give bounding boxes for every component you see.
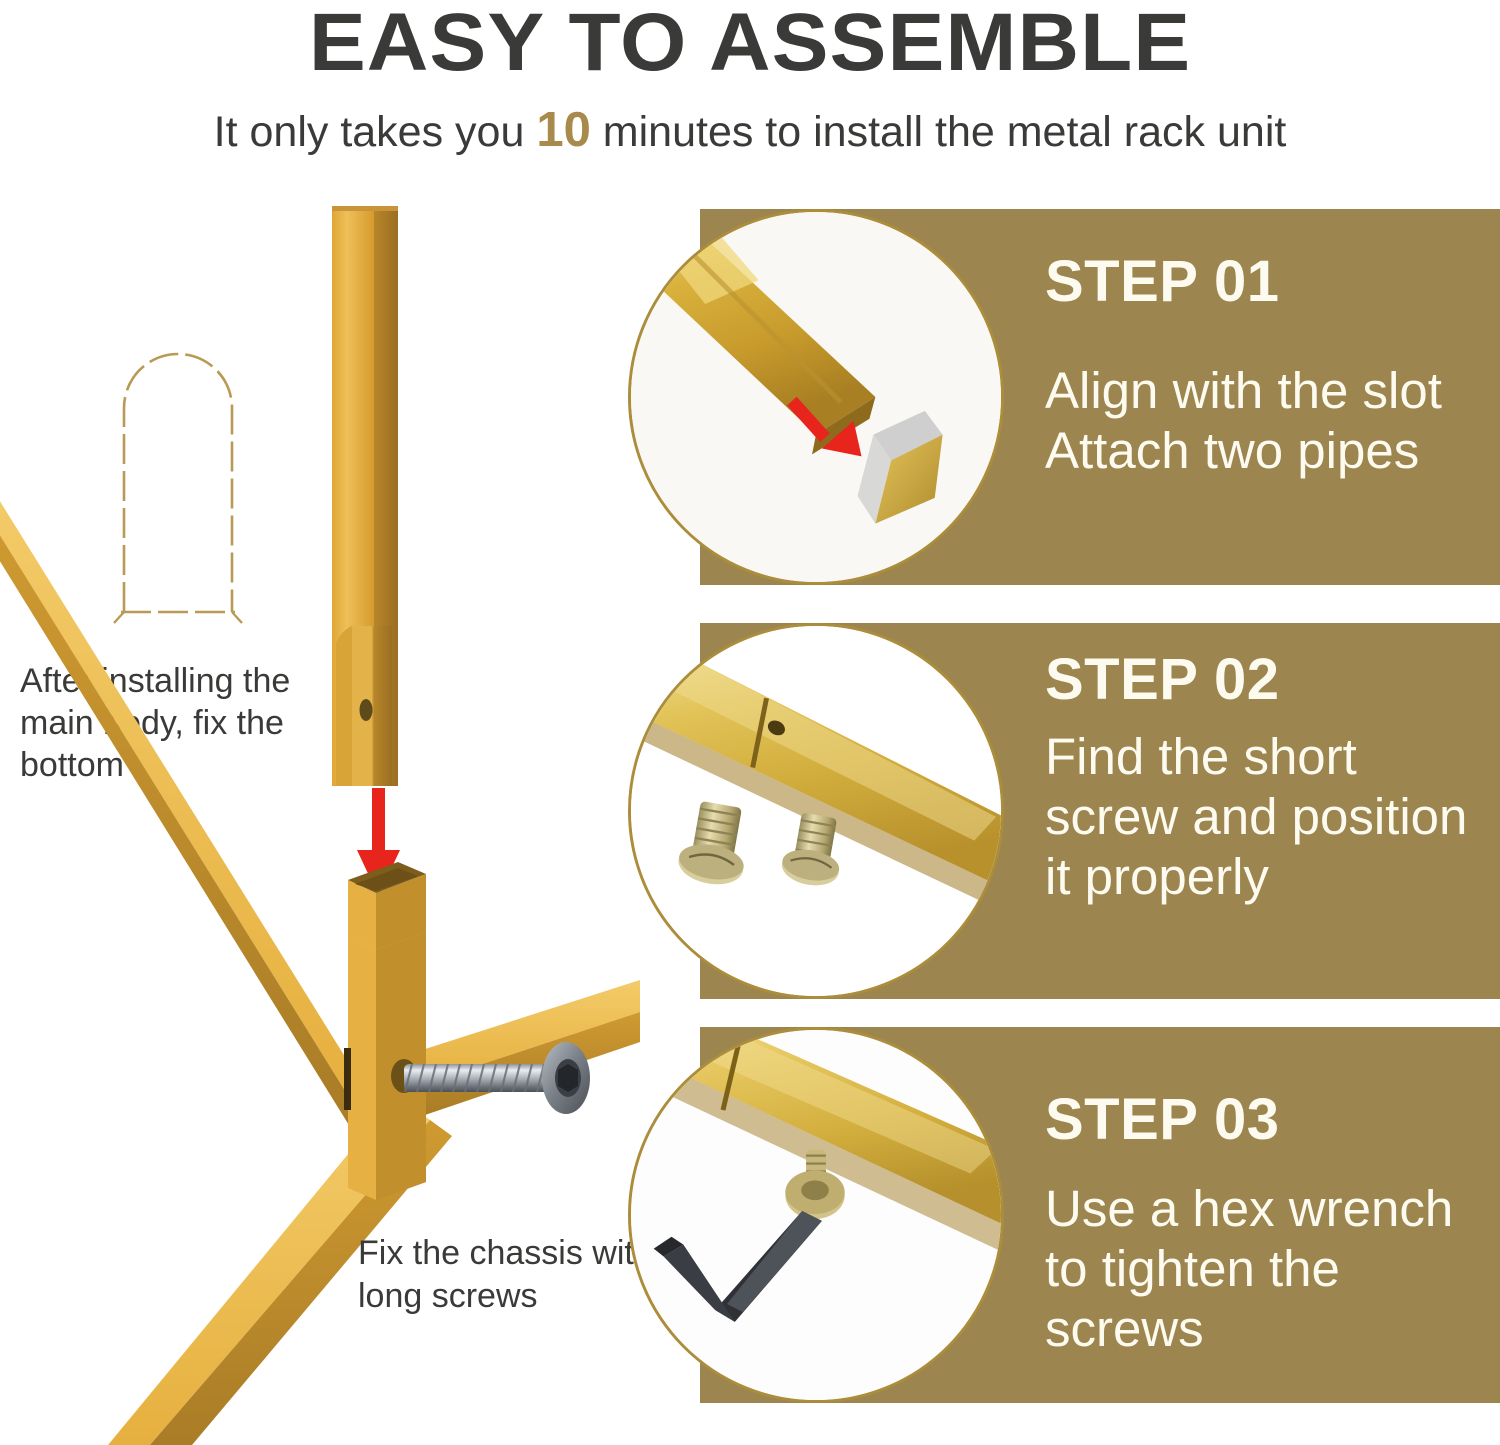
base-bar-right-icon — [422, 980, 640, 1116]
header: EASY TO ASSEMBLE It only takes you 10 mi… — [0, 0, 1500, 175]
hex-wrench-tightening-screw-icon — [628, 1027, 1004, 1403]
short-screws-beside-gold-pipe-icon — [628, 623, 1004, 999]
step-1-body: Align with the slot Attach two pipes — [1045, 361, 1495, 481]
page-subtitle: It only takes you 10 minutes to install … — [0, 104, 1500, 158]
subtitle-text-after: minutes to install the metal rack unit — [591, 108, 1286, 156]
step-panel-3[interactable]: STEP 03 Use a hex wrench to tighten the … — [700, 1027, 1500, 1403]
two-gold-pipes-aligning-icon — [628, 209, 1004, 585]
step-2-text-block: STEP 02 Find the short screw and positio… — [1045, 623, 1485, 999]
page-title: EASY TO ASSEMBLE — [0, 0, 1500, 90]
step-3-text-block: STEP 03 Use a hex wrench to tighten the … — [1045, 1027, 1485, 1403]
step-1-text-block: STEP 01 Align with the slot Attach two p… — [1045, 209, 1485, 585]
step-2-label: STEP 02 — [1045, 647, 1280, 713]
base-bar-left-icon — [0, 472, 352, 1130]
step-3-photo-circle — [628, 1027, 1004, 1403]
step-3-body: Use a hex wrench to tighten the screws — [1045, 1179, 1495, 1359]
upper-pipe-icon — [332, 206, 398, 786]
step-1-label: STEP 01 — [1045, 249, 1280, 315]
step-2-body: Find the short screw and position it pro… — [1045, 727, 1495, 907]
step-2-photo-circle — [628, 623, 1004, 999]
step-panel-1[interactable]: STEP 01 Align with the slot Attach two p… — [700, 209, 1500, 585]
step-panel-2[interactable]: STEP 02 Find the short screw and positio… — [700, 623, 1500, 999]
subtitle-text-before: It only takes you — [214, 108, 537, 156]
step-3-label: STEP 03 — [1045, 1087, 1280, 1153]
infographic-canvas: EASY TO ASSEMBLE It only takes you 10 mi… — [0, 0, 1500, 1445]
subtitle-minutes-number: 10 — [536, 103, 591, 157]
step-1-photo-circle — [628, 209, 1004, 585]
